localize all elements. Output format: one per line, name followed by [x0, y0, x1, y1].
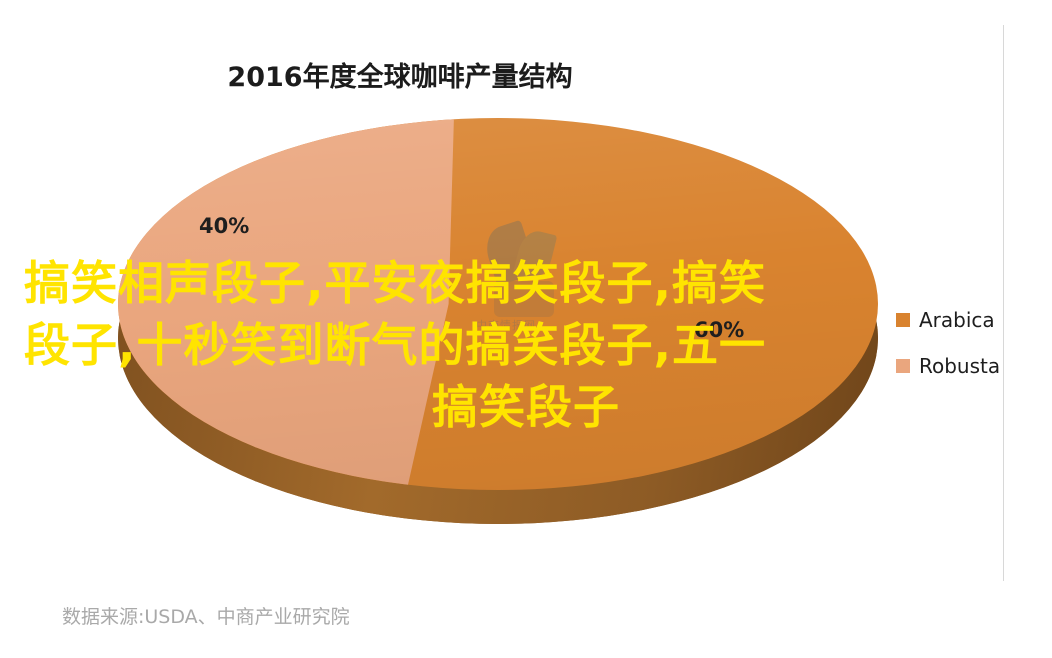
right-divider	[1003, 25, 1004, 581]
legend-swatch-arabica	[896, 313, 910, 327]
chart-canvas: 2016年度全球咖啡产量结构 中商情报网 40% 60% Arabica Rob…	[0, 0, 1052, 658]
legend-label-arabica: Arabica	[919, 308, 995, 332]
legend-swatch-robusta	[896, 359, 910, 373]
pie-label-arabica: 60%	[694, 318, 744, 342]
chart-legend: Arabica Robusta	[896, 305, 1036, 397]
source-note: 数据来源:USDA、中商产业研究院	[62, 602, 350, 629]
legend-item-robusta[interactable]: Robusta	[896, 351, 1036, 381]
pie-top-surface	[118, 118, 878, 490]
pie-chart	[118, 118, 878, 538]
pie-label-robusta: 40%	[199, 214, 249, 238]
legend-item-arabica[interactable]: Arabica	[896, 305, 1036, 335]
chart-title: 2016年度全球咖啡产量结构	[0, 55, 800, 94]
legend-label-robusta: Robusta	[919, 354, 1000, 378]
